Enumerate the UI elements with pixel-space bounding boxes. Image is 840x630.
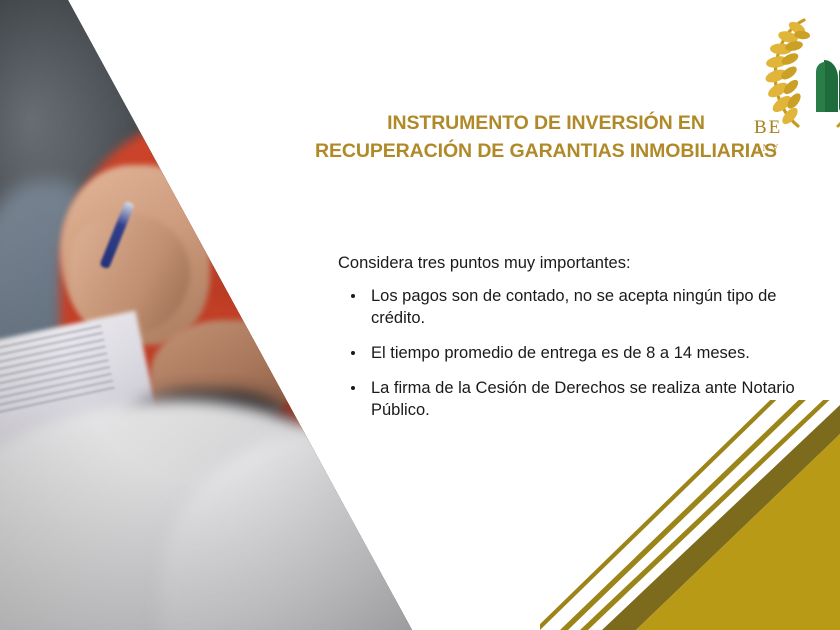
bullet-dot-icon	[351, 351, 355, 355]
slide-canvas: BE INV INSTRUMENTO DE INVERSIÓN EN RECUP…	[0, 0, 840, 630]
list-item-text: Los pagos son de contado, no se acepta n…	[371, 287, 776, 327]
list-item-text: La firma de la Cesión de Derechos se rea…	[371, 379, 795, 419]
slide-title-line-1: INSTRUMENTO DE INVERSIÓN EN	[286, 110, 806, 138]
bullet-dot-icon	[351, 386, 355, 390]
bullet-dot-icon	[351, 294, 355, 298]
content-lead: Considera tres puntos muy importantes:	[338, 252, 830, 274]
slide-title-line-2: RECUPERACIÓN DE GARANTIAS INMOBILIARIAS	[286, 138, 806, 166]
list-item: Los pagos son de contado, no se acepta n…	[338, 286, 830, 330]
content-block: Considera tres puntos muy importantes: L…	[338, 252, 830, 435]
wreath-emblem	[816, 60, 840, 112]
content-bullet-list: Los pagos son de contado, no se acepta n…	[338, 286, 830, 422]
list-item: El tiempo promedio de entrega es de 8 a …	[338, 343, 830, 365]
slide-title: INSTRUMENTO DE INVERSIÓN EN RECUPERACIÓN…	[286, 110, 806, 165]
list-item: La firma de la Cesión de Derechos se rea…	[338, 378, 830, 422]
list-item-text: El tiempo promedio de entrega es de 8 a …	[371, 344, 750, 362]
